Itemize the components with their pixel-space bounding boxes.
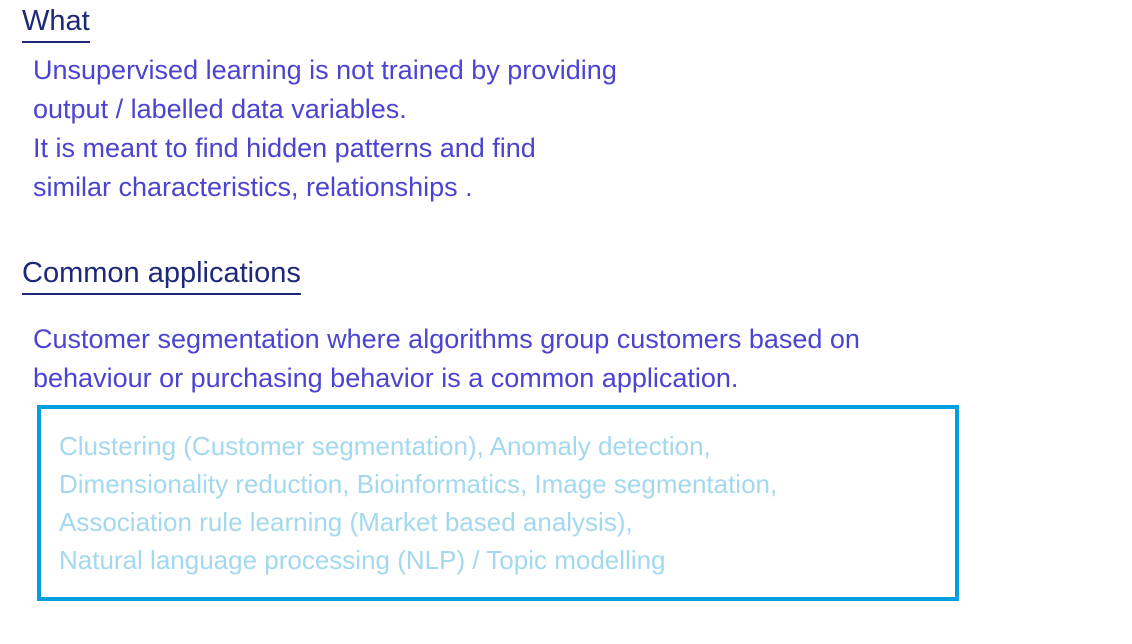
slide-canvas: What Unsupervised learning is not traine… [0, 0, 1132, 644]
paragraph-what: Unsupervised learning is not trained by … [33, 51, 617, 207]
paragraph-common-applications-line-1: Customer segmentation where algorithms g… [33, 320, 860, 359]
applications-callout-text: Clustering (Customer segmentation), Anom… [59, 427, 777, 579]
paragraph-what-line-3: It is meant to find hidden patterns and … [33, 129, 617, 168]
applications-callout-line-2: Dimensionality reduction, Bioinformatics… [59, 465, 777, 503]
section-heading-common-applications: Common applications [22, 256, 301, 295]
section-heading-what-label: What [22, 4, 90, 43]
section-heading-what: What [22, 4, 90, 43]
applications-callout-line-4: Natural language processing (NLP) / Topi… [59, 541, 777, 579]
paragraph-what-line-1: Unsupervised learning is not trained by … [33, 51, 617, 90]
paragraph-what-line-2: output / labelled data variables. [33, 90, 617, 129]
paragraph-what-line-4: similar characteristics, relationships . [33, 168, 617, 207]
applications-callout-box: Clustering (Customer segmentation), Anom… [37, 405, 959, 601]
applications-callout-line-3: Association rule learning (Market based … [59, 503, 777, 541]
paragraph-common-applications: Customer segmentation where algorithms g… [33, 320, 860, 398]
section-heading-common-applications-label: Common applications [22, 256, 301, 295]
applications-callout-line-1: Clustering (Customer segmentation), Anom… [59, 427, 777, 465]
paragraph-common-applications-line-2: behaviour or purchasing behavior is a co… [33, 359, 860, 398]
